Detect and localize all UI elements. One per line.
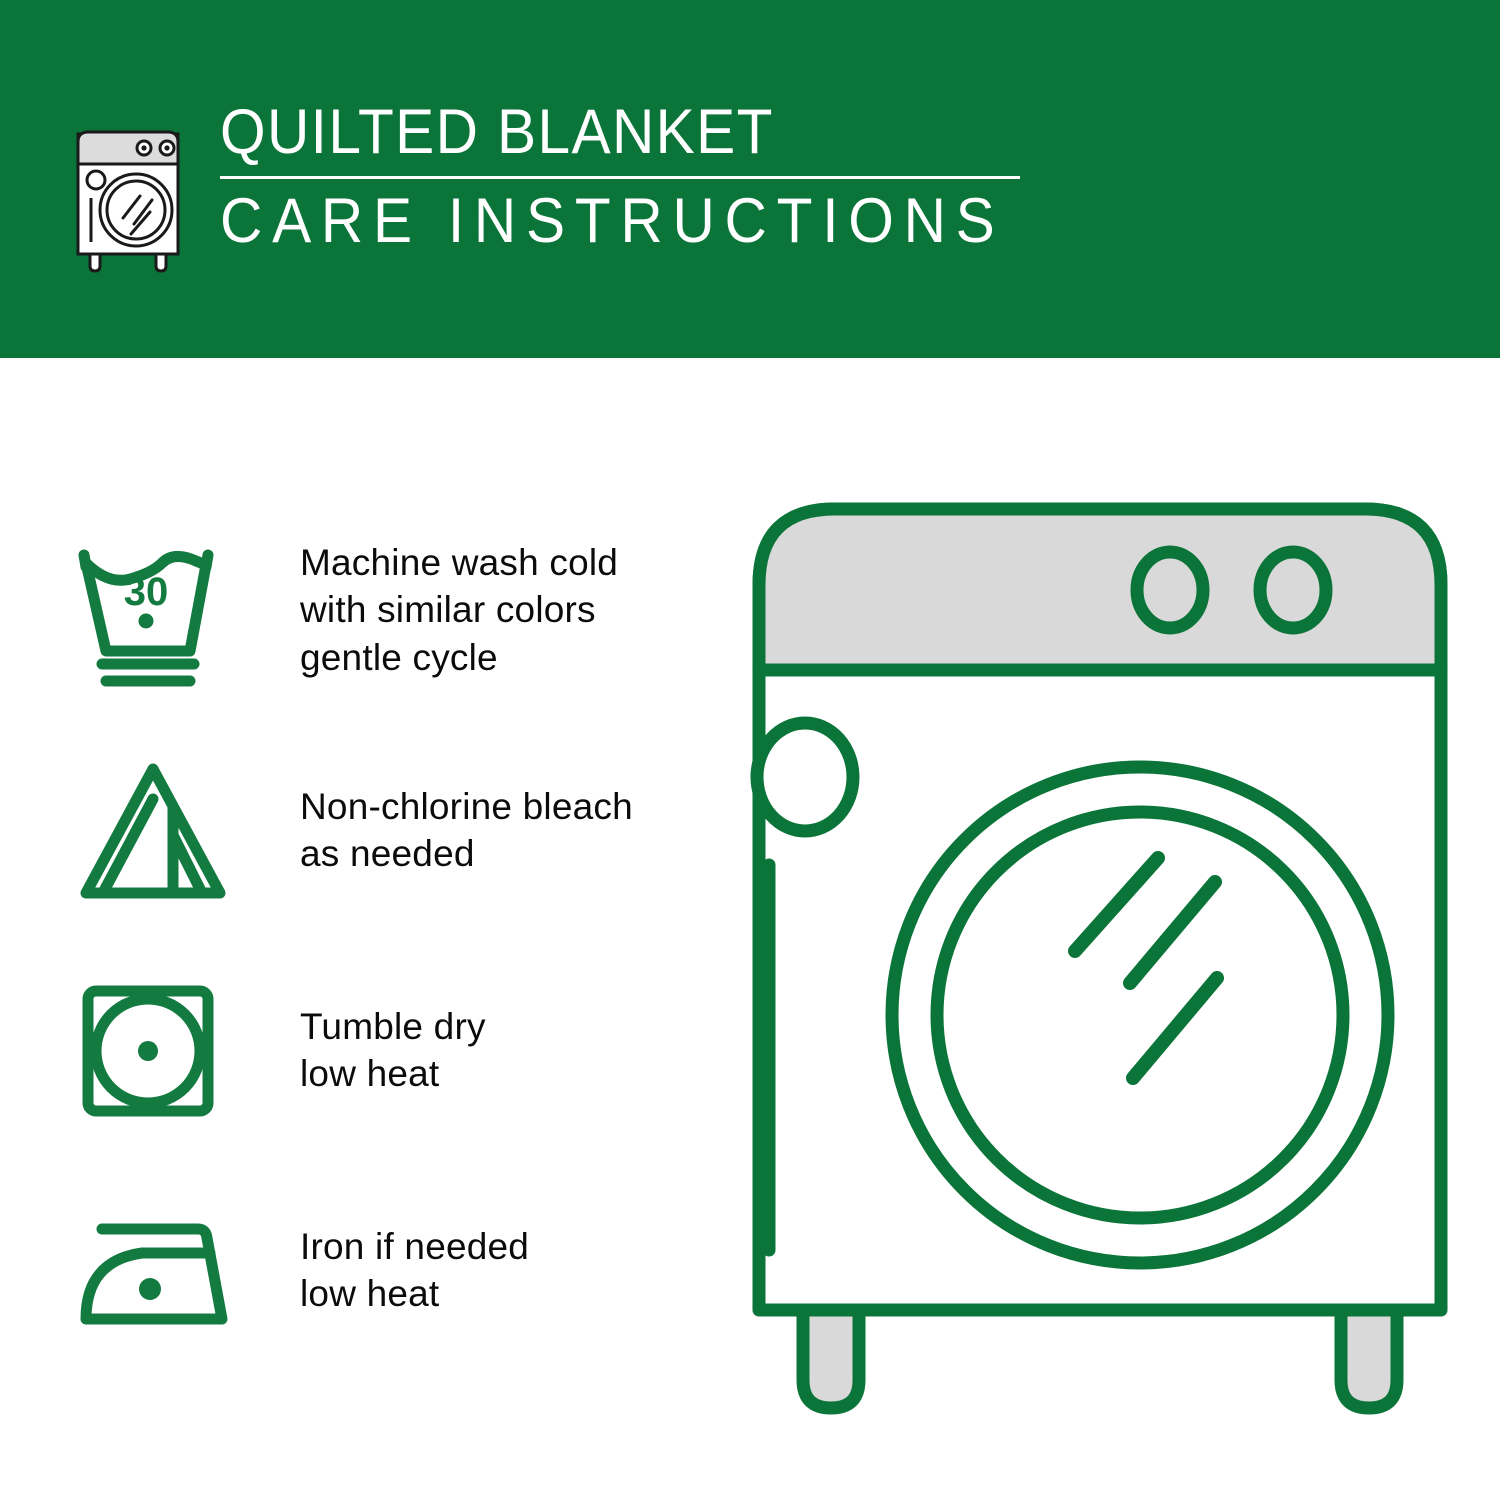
care-line: Non-chlorine bleach [300,783,633,830]
machine-wash-30-gentle-icon: 30 [70,530,245,690]
tumble-dry-low-icon [70,970,245,1130]
care-line: as needed [300,830,633,877]
care-instruction-list: 30 Machine wash cold with similar colors… [70,500,710,1380]
care-text: Non-chlorine bleach as needed [300,783,633,878]
header-content: QUILTED BLANKET CARE INSTRUCTIONS [68,100,1064,274]
care-text: Iron if needed low heat [300,1223,529,1318]
care-row: Non-chlorine bleach as needed [70,720,710,940]
care-line: Iron if needed [300,1223,529,1270]
title-divider [220,176,1020,179]
page-title: QUILTED BLANKET [220,100,1004,164]
header-title-block: QUILTED BLANKET CARE INSTRUCTIONS [220,100,1064,254]
care-line: Machine wash cold [300,539,618,586]
front-load-washing-machine-illustration [745,495,1455,1415]
non-chlorine-bleach-icon [70,750,245,910]
washing-machine-icon [68,106,196,274]
care-text: Machine wash cold with similar colors ge… [300,539,618,681]
care-row: Tumble dry low heat [70,940,710,1160]
care-text: Tumble dry low heat [300,1003,486,1098]
header-banner: QUILTED BLANKET CARE INSTRUCTIONS [0,0,1500,358]
care-line: with similar colors [300,586,618,633]
care-line: gentle cycle [300,634,618,681]
care-line: Tumble dry [300,1003,486,1050]
care-line: low heat [300,1270,529,1317]
care-row: Iron if needed low heat [70,1160,710,1380]
iron-low-heat-icon [70,1190,245,1350]
page-subtitle: CARE INSTRUCTIONS [220,188,1004,254]
care-line: low heat [300,1050,486,1097]
wash-temperature-label: 30 [124,570,169,614]
care-row: 30 Machine wash cold with similar colors… [70,500,710,720]
